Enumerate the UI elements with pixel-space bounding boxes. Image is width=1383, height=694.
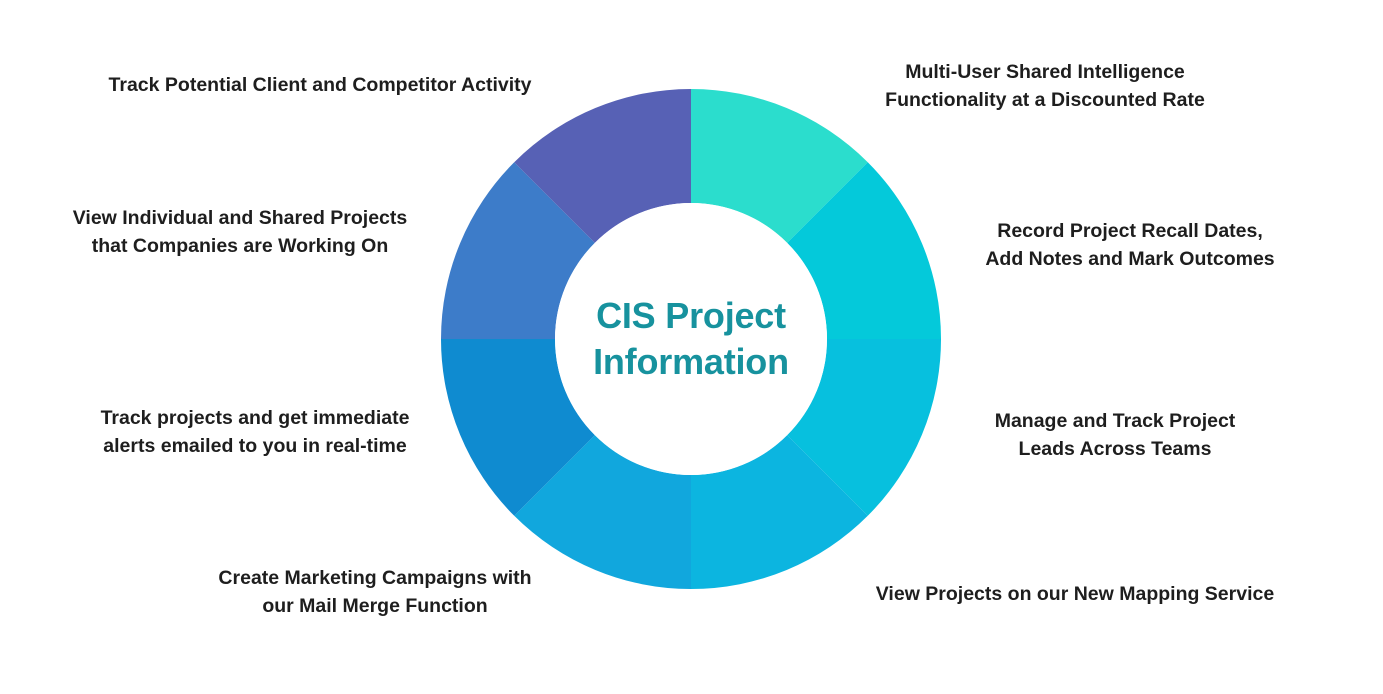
- label-multi-user-shared-intelligence: Multi-User Shared Intelligence Functiona…: [860, 59, 1230, 114]
- label-view-projects-mapping-service: View Projects on our New Mapping Service: [840, 581, 1310, 609]
- center-title-line-1: CIS Project: [596, 293, 786, 339]
- label-track-potential-client-competitor: Track Potential Client and Competitor Ac…: [60, 72, 580, 100]
- label-record-project-recall-dates: Record Project Recall Dates, Add Notes a…: [955, 218, 1305, 273]
- label-create-marketing-campaigns: Create Marketing Campaigns with our Mail…: [180, 565, 570, 620]
- center-title-line-2: Information: [593, 339, 789, 385]
- donut-center-hub: CIS Project Information: [555, 203, 827, 475]
- label-view-individual-shared-projects: View Individual and Shared Projects that…: [30, 205, 450, 260]
- infographic-canvas: CIS Project Information Track Potential …: [0, 0, 1383, 694]
- label-track-projects-alerts: Track projects and get immediate alerts …: [60, 405, 450, 460]
- label-manage-track-project-leads: Manage and Track Project Leads Across Te…: [960, 408, 1270, 463]
